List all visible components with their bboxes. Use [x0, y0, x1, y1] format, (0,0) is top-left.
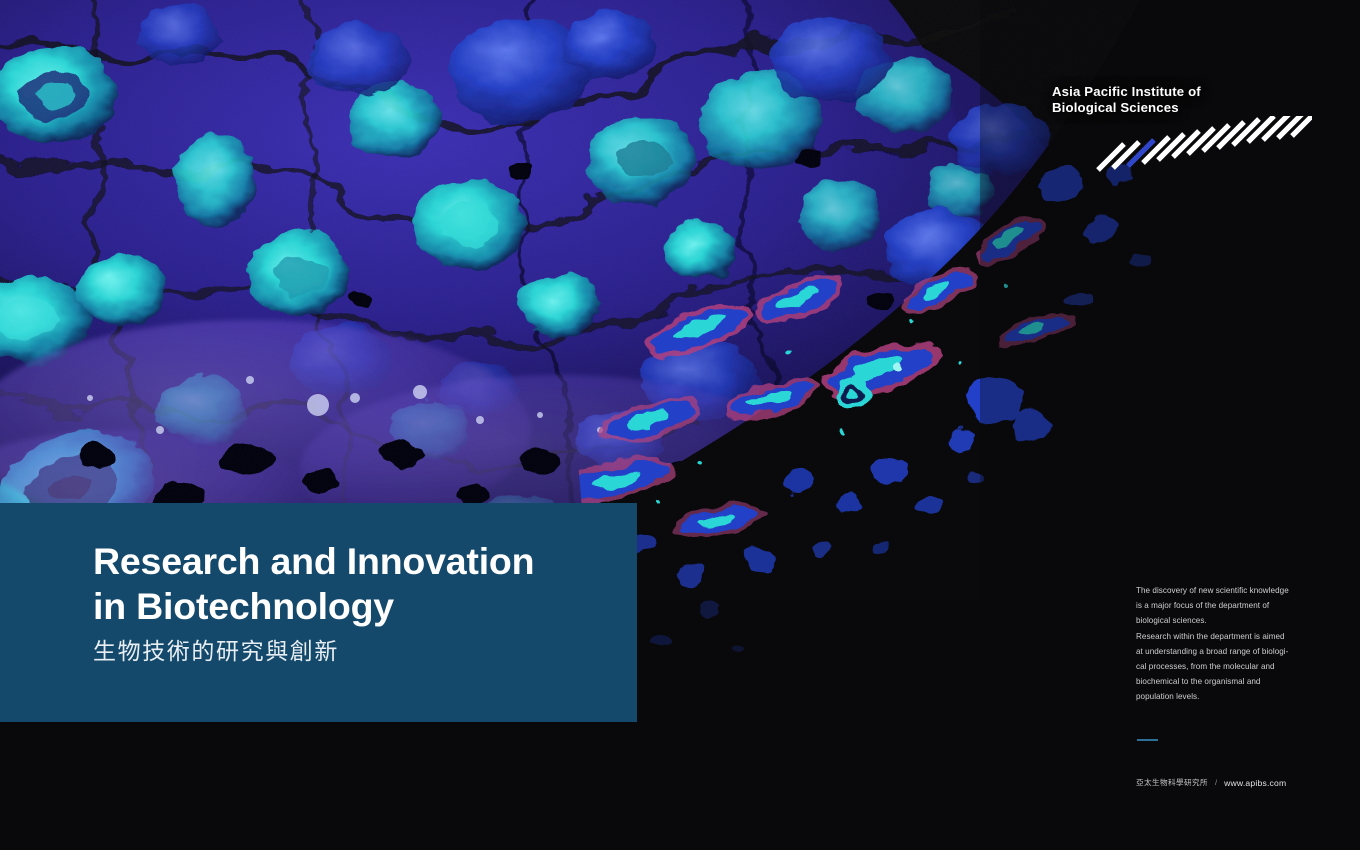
body-paragraph: The discovery of new scientific knowledg… [1136, 583, 1302, 705]
logo[interactable]: Asia Pacific Institute of Biological Sci… [1052, 84, 1312, 174]
footer-separator: / [1215, 778, 1217, 787]
page-subtitle-zh: 生物技術的研究與創新 [93, 636, 339, 666]
page-title: Research and Innovation in Biotechnology [93, 539, 613, 629]
logo-wordmark: Asia Pacific Institute of Biological Sci… [1052, 84, 1201, 115]
diagonal-stripes-mark [1096, 116, 1312, 172]
footer-organization-zh: 亞太生物科學研究所 [1136, 777, 1208, 788]
footer-website-link[interactable]: www.apibs.com [1224, 778, 1286, 788]
title-panel: Research and Innovation in Biotechnology… [0, 503, 637, 722]
accent-rule-divider [1137, 739, 1158, 741]
footer: 亞太生物科學研究所 / www.apibs.com [1136, 777, 1286, 788]
poster-canvas: Asia Pacific Institute of Biological Sci… [0, 0, 1360, 850]
